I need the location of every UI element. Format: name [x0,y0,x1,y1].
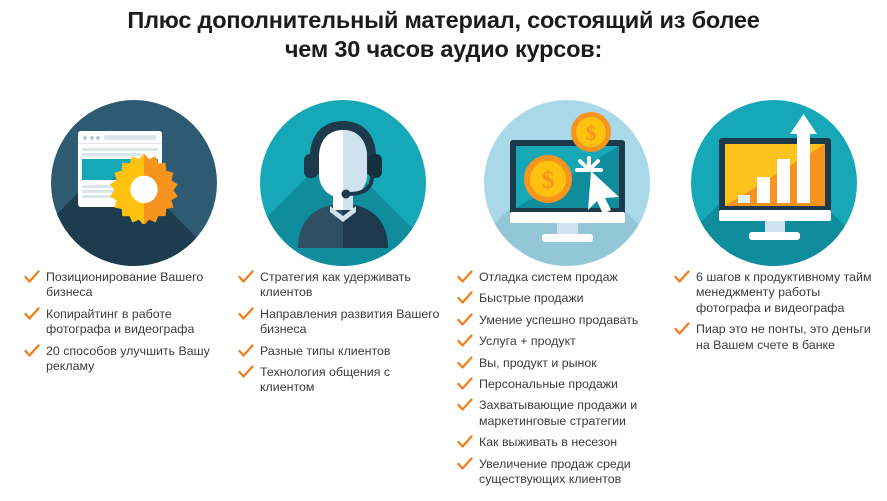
check-icon [24,307,40,321]
benefit-column-3: Отладка систем продаж Быстрые продажи Ум… [455,270,665,493]
list-item: 20 способов улучшить Вашу рекламу [22,344,227,375]
list-item-label: Умение успешно продавать [479,313,665,328]
check-icon [238,365,254,379]
check-icon [457,334,473,348]
benefit-column-1: Позиционирование Вашего бизнеса Копирайт… [22,270,227,380]
list-item: Направления развития Вашего бизнеса [236,307,446,338]
svg-text:$: $ [542,167,555,194]
list-item: Разные типы клиентов [236,344,446,359]
list-item: 6 шагов к продуктивному тайм менеджменту… [672,270,884,316]
page-title-line2: чем 30 часов аудио курсов: [0,35,887,64]
check-icon [457,398,473,412]
list-item-label: 20 способов улучшить Вашу рекламу [46,344,227,375]
check-icon [457,377,473,391]
icon-circle-row: $ $ [0,100,887,266]
benefit-column-4: 6 шагов к продуктивному тайм менеджменту… [672,270,884,359]
check-icon [457,270,473,284]
list-item: Вы, продукт и рынок [455,356,665,371]
check-icon [457,291,473,305]
icon-circle-4 [691,100,857,266]
check-icon [457,356,473,370]
headset-operator-icon [260,100,426,266]
list-item-label: Стратегия как удерживать клиентов [260,270,446,301]
check-icon [24,344,40,358]
monitor-growth-chart-icon [691,100,857,266]
check-icon [457,457,473,471]
check-icon [674,322,690,336]
list-item-label: Копирайтинг в работе фотографа и видеогр… [46,307,227,338]
page-title-line1: Плюс дополнительный материал, состоящий … [0,6,887,35]
gear-icon [108,152,180,224]
list-item-label: Увеличение продаж среди существующих кли… [479,457,665,488]
list-item-label: Позиционирование Вашего бизнеса [46,270,227,301]
list-item-label: Услуга + продукт [479,334,665,349]
list-item-label: Вы, продукт и рынок [479,356,665,371]
list-item: Умение успешно продавать [455,313,665,328]
list-item-label: Пиар это не понты, это деньги на Вашем с… [696,322,884,353]
list-item-label: Технология общения с клиентом [260,365,446,396]
check-icon [238,307,254,321]
list-item: Персональные продажи [455,377,665,392]
check-icon [457,313,473,327]
check-icon [674,270,690,284]
list-item: Технология общения с клиентом [236,365,446,396]
list-item-label: Быстрые продажи [479,291,665,306]
list-item: Услуга + продукт [455,334,665,349]
list-item: Стратегия как удерживать клиентов [236,270,446,301]
infographic-page: Плюс дополнительный материал, состоящий … [0,0,887,501]
monitor-coins-cursor-icon: $ $ [484,100,650,266]
icon-circle-2 [260,100,426,266]
page-title: Плюс дополнительный материал, состоящий … [0,6,887,64]
list-item: Пиар это не понты, это деньги на Вашем с… [672,322,884,353]
icon-circle-1 [51,100,217,266]
check-icon [238,344,254,358]
check-icon [457,435,473,449]
list-item-label: Персональные продажи [479,377,665,392]
list-item: Позиционирование Вашего бизнеса [22,270,227,301]
list-item-label: Захватывающие продажи и маркетинговые ст… [479,398,665,429]
list-item: Как выживать в несезон [455,435,665,450]
browser-gear-icon [51,100,217,266]
list-item-label: Направления развития Вашего бизнеса [260,307,446,338]
list-item: Захватывающие продажи и маркетинговые ст… [455,398,665,429]
list-item-label: Разные типы клиентов [260,344,446,359]
list-item: Быстрые продажи [455,291,665,306]
svg-text:$: $ [586,121,597,145]
check-icon [238,270,254,284]
list-item: Отладка систем продаж [455,270,665,285]
list-item: Копирайтинг в работе фотографа и видеогр… [22,307,227,338]
list-item-label: Отладка систем продаж [479,270,665,285]
benefit-column-2: Стратегия как удерживать клиентов Направ… [236,270,446,402]
list-item: Увеличение продаж среди существующих кли… [455,457,665,488]
check-icon [24,270,40,284]
list-item-label: Как выживать в несезон [479,435,665,450]
list-item-label: 6 шагов к продуктивному тайм менеджменту… [696,270,884,316]
icon-circle-3: $ $ [484,100,650,266]
